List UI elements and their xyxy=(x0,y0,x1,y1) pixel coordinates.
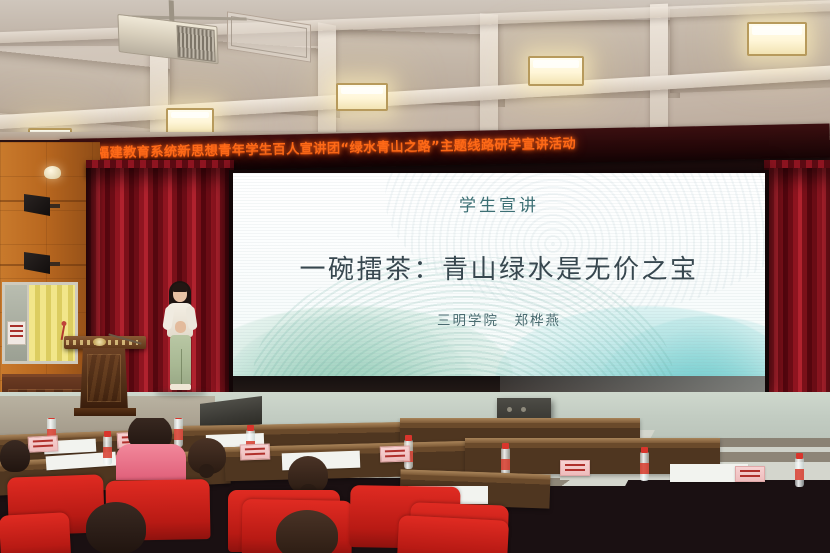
lectern-emblem xyxy=(93,338,106,346)
audience-area xyxy=(0,418,830,553)
ceiling-light-2 xyxy=(166,108,214,134)
ceiling-beam-2 xyxy=(318,22,336,141)
presenter-fringe xyxy=(172,283,188,292)
presenter-shoes xyxy=(170,384,191,390)
name-card-6 xyxy=(735,466,765,482)
presenter-trousers xyxy=(170,335,191,385)
lectern-body xyxy=(80,348,128,412)
name-card-4 xyxy=(380,445,411,462)
water-bottle-2 xyxy=(174,418,183,447)
slide-byline-text: 三明学院 郑桦燕 xyxy=(233,309,765,329)
lectern-base xyxy=(74,408,136,416)
audience-head-front-1 xyxy=(86,502,146,553)
table-surface xyxy=(400,418,640,423)
window-curtain xyxy=(29,285,75,361)
table-surface xyxy=(180,422,410,431)
stage-curtain-right xyxy=(764,168,830,406)
wall-dome-light xyxy=(44,166,61,179)
ceiling-light-5 xyxy=(747,22,807,56)
water-bottle-3 xyxy=(103,436,112,465)
ceiling-light-3 xyxy=(336,83,388,111)
window-notice-sign xyxy=(7,321,26,345)
audience-chair-8 xyxy=(397,515,509,553)
student-presenter xyxy=(160,281,200,393)
projector-vent-grille xyxy=(177,25,216,62)
water-bottle-8 xyxy=(795,458,804,487)
audience-head-front-2 xyxy=(276,510,338,553)
presenter-hands xyxy=(175,321,186,333)
audience-hair-bun-1 xyxy=(199,464,214,478)
audience-chair-6 xyxy=(0,512,71,553)
audience-torso-pink xyxy=(116,444,186,480)
wooden-lectern xyxy=(74,336,136,412)
water-bottle-7 xyxy=(640,452,649,481)
presentation-slide: 学生宣讲 一碗擂茶：青山绿水是无价之宝 三明学院 郑桦燕 xyxy=(233,173,765,376)
auditorium-photo: 福建教育系统新思想青年学生百人宣讲团“绿水青山之路”主题线路研学宣讲活动 学生宣… xyxy=(0,0,830,553)
ceiling-light-4 xyxy=(528,56,584,86)
audience-head-3 xyxy=(0,440,30,472)
name-card-3 xyxy=(240,443,271,460)
ceiling-beam-4 xyxy=(650,4,668,133)
slide-title-text: 一碗擂茶：青山绿水是无价之宝 xyxy=(233,249,765,286)
name-card-5 xyxy=(560,460,590,476)
wall-seam-1 xyxy=(0,200,100,202)
name-card-1 xyxy=(28,435,59,453)
ceiling-beam-3 xyxy=(480,13,498,136)
slide-kicker-text: 学生宣讲 xyxy=(233,191,765,216)
